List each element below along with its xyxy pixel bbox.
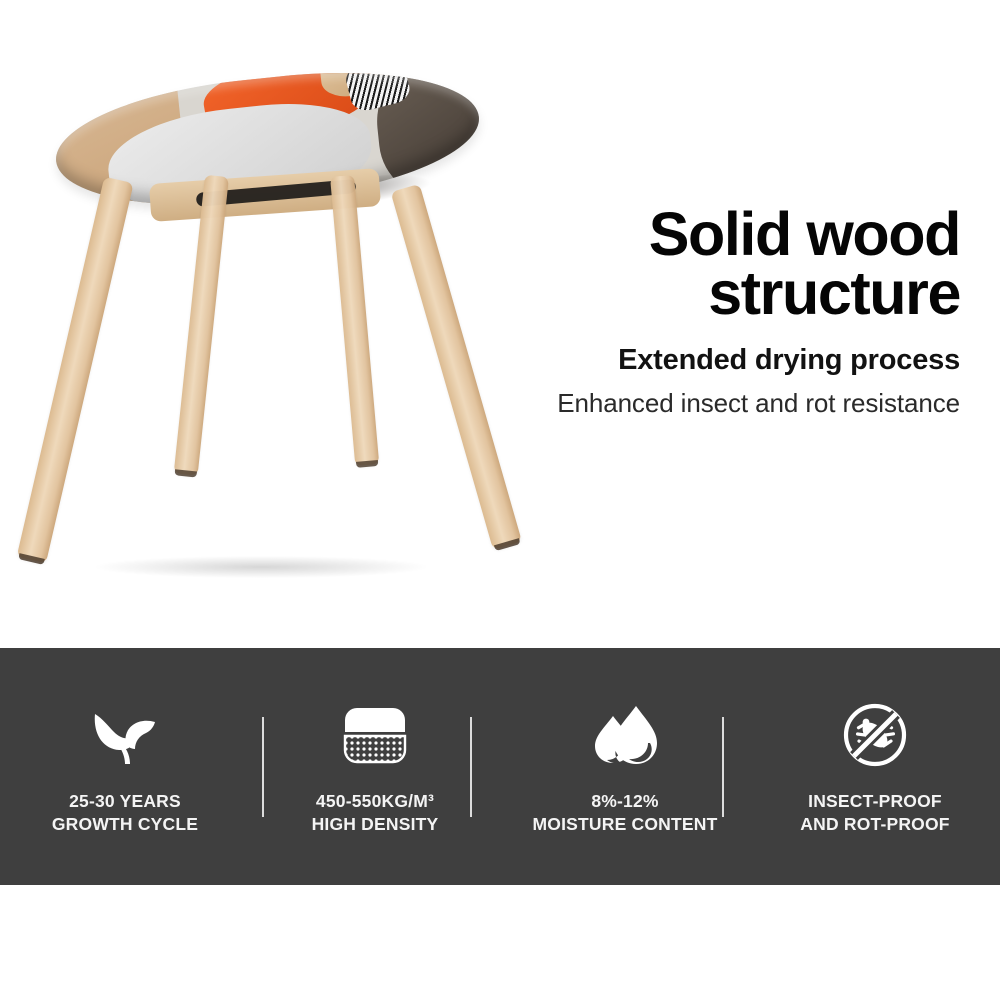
feature-label-insect-proof: INSECT-PROOF AND ROT-PROOF (800, 790, 949, 835)
floor-shadow (96, 556, 426, 578)
feature-line-2: AND ROT-PROOF (800, 813, 949, 835)
tagline: Enhanced insect and rot resistance (340, 388, 960, 419)
water-drops-icon (591, 698, 659, 772)
feature-label-growth-cycle: 25-30 YEARS GROWTH CYCLE (52, 790, 198, 835)
divider-3 (722, 717, 724, 817)
headline-line-2: structure (340, 264, 960, 323)
feature-label-high-density: 450-550KG/M³ HIGH DENSITY (312, 790, 439, 835)
headline-line-1: Solid wood (340, 205, 960, 264)
feature-line-2: MOISTURE CONTENT (532, 813, 717, 835)
divider-2 (470, 717, 472, 817)
headline-block: Solid wood structure Extended drying pro… (340, 205, 960, 419)
feature-line-2: HIGH DENSITY (312, 813, 439, 835)
leaf-icon (89, 698, 161, 772)
feature-item-insect-proof: INSECT-PROOF AND ROT-PROOF (750, 648, 1000, 885)
density-block-icon (343, 698, 407, 772)
feature-line-1: 450-550KG/M³ (316, 791, 434, 811)
hero-section: Solid wood structure Extended drying pro… (0, 0, 1000, 648)
feature-label-moisture-content: 8%-12% MOISTURE CONTENT (532, 790, 717, 835)
feature-line-1: 25-30 YEARS (69, 791, 181, 811)
stool-leg-front-left (17, 177, 134, 564)
feature-item-high-density: 450-550KG/M³ HIGH DENSITY (250, 648, 500, 885)
stool-leg-back-left (174, 175, 229, 476)
subheadline: Extended drying process (340, 344, 960, 377)
no-insect-icon (842, 698, 908, 772)
feature-bar: 25-30 YEARS GROWTH CYCLE 450-550KG/M³ HI… (0, 648, 1000, 885)
feature-line-1: INSECT-PROOF (808, 791, 942, 811)
feature-item-growth-cycle: 25-30 YEARS GROWTH CYCLE (0, 648, 250, 885)
feature-line-1: 8%-12% (591, 791, 658, 811)
feature-line-2: GROWTH CYCLE (52, 813, 198, 835)
feature-item-moisture-content: 8%-12% MOISTURE CONTENT (500, 648, 750, 885)
